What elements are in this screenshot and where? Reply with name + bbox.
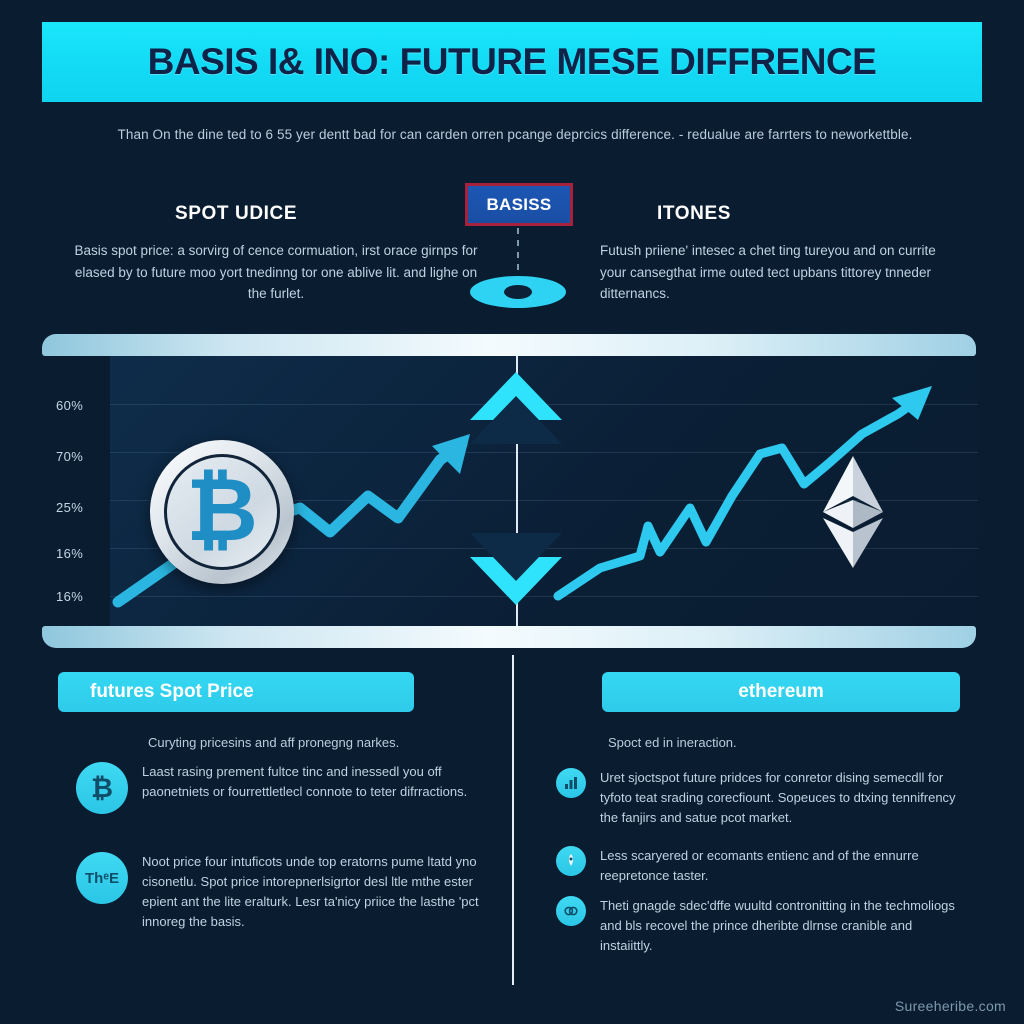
spot-column-body: Basis spot price: a sorvirg of cence cor… <box>66 240 486 305</box>
page-title: BASIS I& INO: FUTURE MESE DIFFRENCE <box>148 41 877 83</box>
chart-frame-top-bar <box>42 334 976 356</box>
spot-column-heading: SPOT UDICE <box>175 203 297 225</box>
chart-ytick-0: 60% <box>56 398 83 413</box>
bitcoin-icon: ₿ <box>76 762 128 814</box>
list-item-text: Theti gnagde sdec'dffe wuultd contronitt… <box>600 896 966 956</box>
rocket-icon <box>556 846 586 876</box>
footer-watermark: Sureeheribe.com <box>895 998 1006 1014</box>
list-item: ThᵉE Noot price four intuficots unde top… <box>76 852 480 932</box>
basis-ellipse-icon <box>470 276 566 308</box>
list-item-text: Uret sjoctspot future pridces for conret… <box>600 768 966 828</box>
coins-icon <box>556 896 586 926</box>
ethereum-diamond-marker <box>820 454 886 570</box>
bitcoin-coin-marker: ₿ <box>150 440 294 584</box>
up-chevron-notch <box>470 396 562 444</box>
chart-ytick-2: 25% <box>56 500 83 515</box>
list-item: Theti gnagde sdec'dffe wuultd contronitt… <box>556 896 966 956</box>
bar-chart-icon <box>556 768 586 798</box>
basis-dashed-connector <box>517 228 519 280</box>
ethereum-banner: ethereum <box>602 672 960 712</box>
bottom-center-divider <box>512 655 514 985</box>
list-item-text: Laast rasing prement fultce tinc and ine… <box>142 762 480 814</box>
header-band: BASIS I& INO: FUTURE MESE DIFFRENCE <box>42 22 982 102</box>
ethereum-banner-label: ethereum <box>738 681 824 703</box>
basis-badge: BASISS <box>465 183 573 226</box>
futures-column-body: Futush priiene' intesec a chet ting ture… <box>600 240 960 305</box>
list-item-text: Noot price four intuficots unde top erat… <box>142 852 480 932</box>
chart-ytick-3: 16% <box>56 546 83 561</box>
bitcoin-glyph: ₿ <box>91 773 113 804</box>
infographic-page: BASIS I& INO: FUTURE MESE DIFFRENCE Than… <box>0 0 1024 1024</box>
chart-ytick-1: 70% <box>56 449 83 464</box>
chart-ytick-4: 16% <box>56 589 83 604</box>
bitcoin-icon: ₿ <box>186 466 258 554</box>
ethereum-icon <box>820 454 886 570</box>
list-item-text: Less scaryered or ecomants entienc and o… <box>600 846 966 886</box>
ethereum-text-icon: ThᵉE <box>76 852 128 904</box>
down-chevron-notch <box>470 533 562 581</box>
chart-frame-bottom-bar <box>42 626 976 648</box>
basis-badge-label: BASISS <box>486 195 551 215</box>
list-item: Uret sjoctspot future pridces for conret… <box>556 768 966 828</box>
futures-column-heading: ITONES <box>657 203 731 225</box>
page-subtitle: Than On the dine ted to 6 55 yer dentt b… <box>95 124 935 146</box>
futures-spot-price-banner-label: futures Spot Price <box>90 681 254 703</box>
list-item: Less scaryered or ecomants entienc and o… <box>556 846 966 886</box>
list-item: ₿ Laast rasing prement fultce tinc and i… <box>76 762 480 814</box>
bitcoin-coin-inner: ₿ <box>164 454 280 570</box>
left-lead-note: Curyting pricesins and aff pronegng nark… <box>148 733 478 753</box>
ethereum-text-glyph: ThᵉE <box>85 870 119 887</box>
futures-spot-price-banner: futures Spot Price <box>58 672 414 712</box>
right-lead-note: Spoct ed in ineraction. <box>608 733 968 753</box>
